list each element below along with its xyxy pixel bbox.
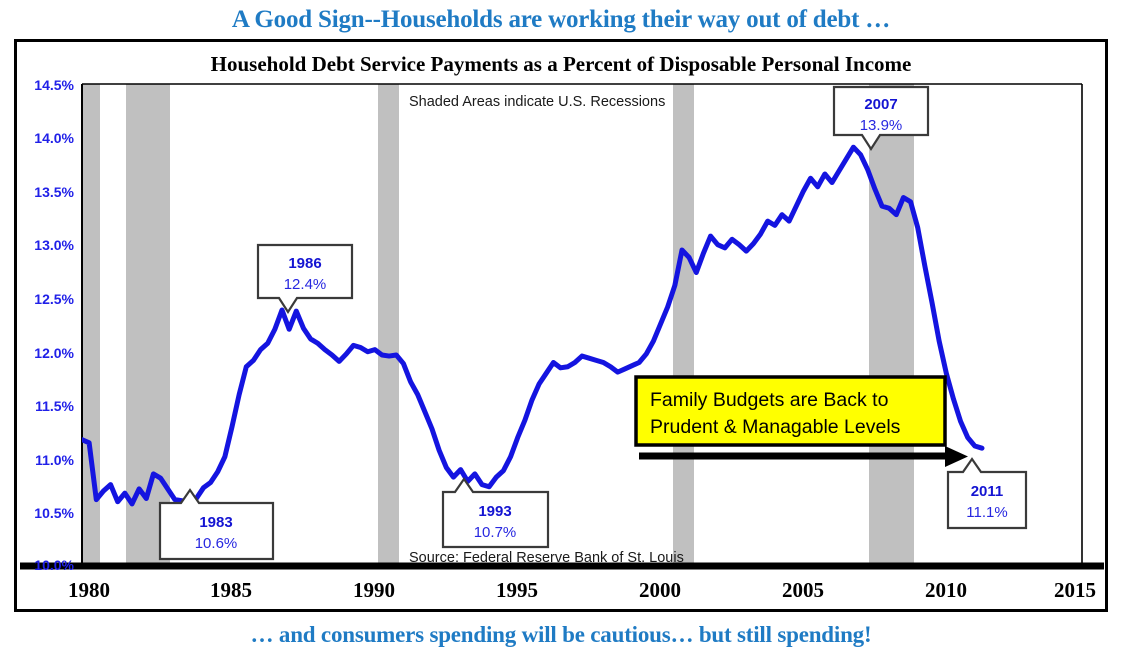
y-tick-label: 12.5% — [34, 291, 74, 307]
x-tick-label: 2015 — [1054, 578, 1096, 602]
y-tick-label: 13.0% — [34, 237, 74, 253]
plot-axes — [20, 84, 1104, 566]
callout-value: 13.9% — [860, 117, 903, 134]
y-axis-labels: 14.5% 14.0% 13.5% 13.0% 12.5% 12.0% 11.5… — [34, 77, 74, 573]
x-tick-label: 1980 — [68, 578, 110, 602]
recession-band — [378, 84, 399, 566]
highlight-line1: Family Budgets are Back to — [650, 389, 889, 411]
chart-plot: 14.5% 14.0% 13.5% 13.0% 12.5% 12.0% 11.5… — [0, 0, 1122, 671]
y-tick-label: 13.5% — [34, 184, 74, 200]
x-tick-label: 2005 — [782, 578, 824, 602]
callout-year: 2011 — [971, 483, 1004, 500]
callout-year: 1983 — [199, 514, 232, 531]
x-tick-label: 2010 — [925, 578, 967, 602]
recession-band — [673, 84, 694, 566]
recession-note: Shaded Areas indicate U.S. Recessions — [409, 94, 665, 110]
highlight-line2: Prudent & Managable Levels — [650, 416, 901, 438]
callout-value: 10.6% — [195, 535, 238, 552]
y-tick-label: 14.5% — [34, 77, 74, 93]
y-tick-label: 12.0% — [34, 345, 74, 361]
y-tick-label: 10.0% — [34, 557, 74, 573]
callout-value: 11.1% — [966, 504, 1007, 521]
y-tick-label: 10.5% — [34, 505, 74, 521]
footline-text: … and consumers spending will be cautiou… — [0, 622, 1122, 648]
y-tick-label: 11.5% — [35, 398, 74, 414]
callout-2011: 2011 11.1% — [948, 459, 1026, 528]
x-tick-label: 1990 — [353, 578, 395, 602]
x-tick-label: 2000 — [639, 578, 681, 602]
x-tick-label: 1985 — [210, 578, 252, 602]
recession-band — [869, 84, 914, 566]
source-note: Source: Federal Reserve Bank of St. Loui… — [409, 550, 684, 566]
y-tick-label: 14.0% — [34, 130, 74, 146]
callout-year: 1986 — [288, 255, 321, 272]
data-series-line — [82, 147, 982, 504]
x-axis-labels: 1980 1985 1990 1995 2000 2005 2010 2015 — [68, 578, 1096, 602]
highlight-callout: Family Budgets are Back to Prudent & Man… — [636, 377, 968, 467]
callout-value: 10.7% — [474, 524, 517, 541]
callout-year: 2007 — [864, 96, 897, 113]
callout-1993: 1993 10.7% — [443, 479, 548, 547]
x-tick-label: 1995 — [496, 578, 538, 602]
callout-1986: 1986 12.4% — [258, 245, 352, 312]
callout-year: 1993 — [478, 503, 511, 520]
y-tick-label: 11.0% — [35, 452, 74, 468]
callout-value: 12.4% — [284, 276, 327, 293]
